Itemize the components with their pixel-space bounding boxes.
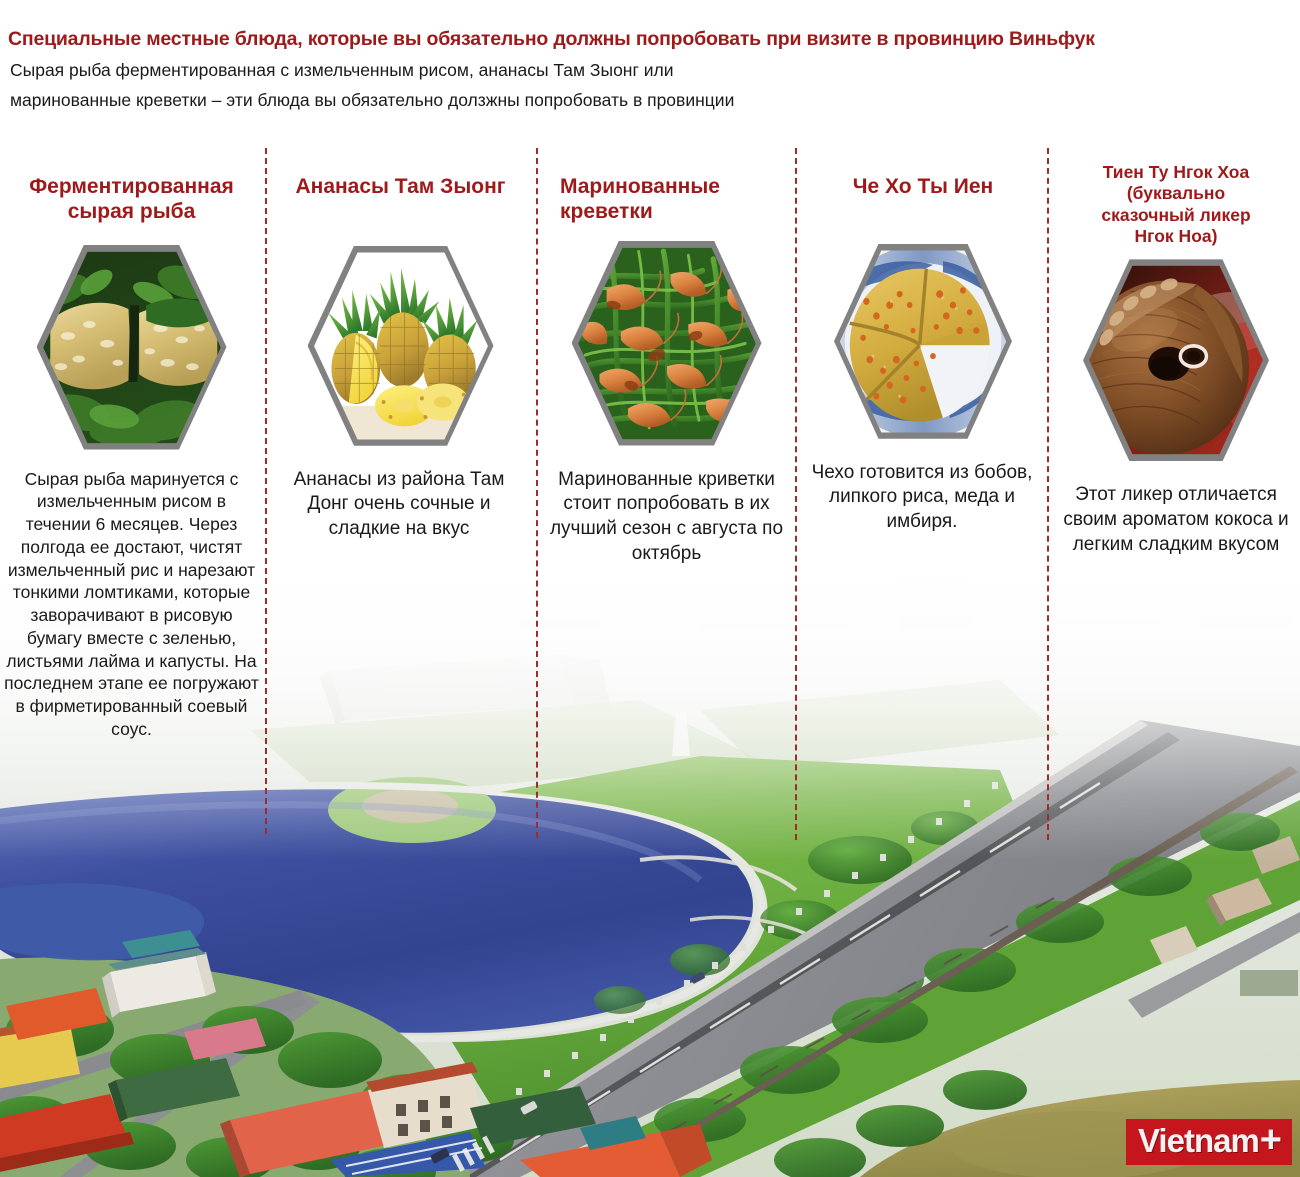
column-2-image [308, 246, 494, 446]
vietnam-plus-logo: Vietnam + [1126, 1119, 1292, 1165]
column-1-body: Сырая рыба маринуется с измельченным рис… [4, 468, 259, 741]
divider-3 [795, 148, 797, 840]
column-1-image [37, 245, 227, 450]
logo-text: Vietnam [1138, 1122, 1259, 1160]
divider-2 [536, 148, 538, 838]
column-3-image [572, 241, 762, 446]
column-marinated-shrimp: Маринованныекреветки [540, 175, 793, 566]
column-4-body: Чехо готовится из бобов, липкого риса, м… [802, 461, 1042, 535]
column-1-heading: Ферментированнаясырая рыба [0, 175, 263, 225]
column-4-image [834, 244, 1012, 439]
column-3-body: Маринованные криветки стоит попробовать … [544, 468, 789, 567]
column-coconut-liquor: Тиен Ту Нгок Хоа(буквальносказочный лике… [1052, 162, 1300, 557]
column-5-image [1083, 259, 1269, 461]
subtitle-line-1: Сырая рыба ферментированная с измельченн… [10, 60, 673, 81]
logo-plus-icon: + [1260, 1127, 1282, 1154]
column-5-body: Этот ликер отличается своим ароматом кок… [1056, 483, 1296, 557]
page-title: Специальные местные блюда, которые вы об… [8, 28, 1292, 51]
column-3-heading: Маринованныекреветки [540, 175, 770, 225]
column-5-heading: Тиен Ту Нгок Хоа(буквальносказочный лике… [1052, 162, 1300, 247]
column-4-heading: Че Хо Ты Иен [800, 175, 1046, 200]
divider-4 [1047, 148, 1049, 840]
column-pineapples: Ананасы Там Зыонг [268, 175, 533, 542]
column-fermented-raw-fish: Ферментированнаясырая рыба [0, 175, 263, 741]
subtitle-line-2: маринованные креветки – эти блюда вы обя… [10, 90, 734, 111]
header: Специальные местные блюда, которые вы об… [0, 0, 1300, 130]
infographic-canvas: Специальные местные блюда, которые вы об… [0, 0, 1300, 1177]
column-2-body: Ананасы из района Там Донг очень сочные … [274, 468, 524, 542]
column-che-ho-ty-yen: Че Хо Ты Иен [800, 175, 1046, 535]
column-2-heading: Ананасы Там Зыонг [268, 175, 533, 200]
divider-1 [265, 148, 267, 834]
